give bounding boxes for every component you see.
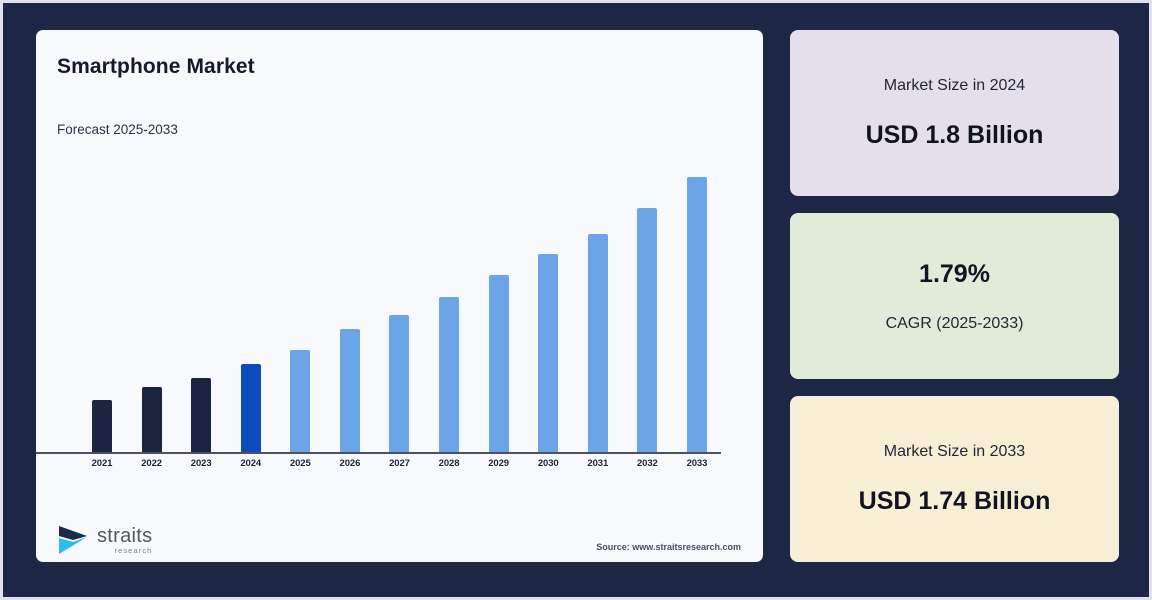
x-axis-label-2022: 2022 <box>129 458 175 469</box>
bar-chart-plot <box>57 160 742 452</box>
bar-slot <box>575 160 621 452</box>
bar-2024[interactable] <box>241 364 261 452</box>
x-axis-line <box>36 452 721 454</box>
bar-slot <box>624 160 670 452</box>
stat-card-caption: Market Size in 2024 <box>884 77 1025 95</box>
x-axis-label-2029: 2029 <box>476 458 522 469</box>
bar-slot <box>327 160 373 452</box>
stat-card-3: Market Size in 2033USD 1.74 Billion <box>790 396 1119 562</box>
stat-card-caption: Market Size in 2033 <box>884 443 1025 461</box>
bar-slot <box>228 160 274 452</box>
bar-slot <box>426 160 472 452</box>
bar-2028[interactable] <box>439 297 459 452</box>
bar-slot <box>674 160 720 452</box>
bar-slot <box>525 160 571 452</box>
stat-card-1: Market Size in 2024USD 1.8 Billion <box>790 30 1119 196</box>
logo-word: straits <box>97 526 152 546</box>
bar-slot <box>476 160 522 452</box>
x-axis-tick-labels: 2021202220232024202520262027202820292030… <box>57 458 742 469</box>
x-axis-label-2032: 2032 <box>624 458 670 469</box>
bar-slot <box>277 160 323 452</box>
stat-card-caption: CAGR (2025-2033) <box>886 315 1024 333</box>
bar-2022[interactable] <box>142 387 162 452</box>
x-axis-label-2023: 2023 <box>178 458 224 469</box>
bar-slot <box>376 160 422 452</box>
chart-panel: Smartphone Market Forecast 2025-2033 202… <box>36 30 763 562</box>
stat-card-value: 1.79% <box>919 260 990 289</box>
logo-wordmark: straits research <box>97 526 152 555</box>
x-axis-label-2030: 2030 <box>525 458 571 469</box>
x-axis-label-2033: 2033 <box>674 458 720 469</box>
x-axis-label-2026: 2026 <box>327 458 373 469</box>
bar-slot <box>79 160 125 452</box>
bar-series <box>57 160 742 452</box>
stat-card-2: 1.79%CAGR (2025-2033) <box>790 213 1119 379</box>
bar-2030[interactable] <box>538 254 558 452</box>
x-axis-label-2024: 2024 <box>228 458 274 469</box>
bar-slot <box>129 160 175 452</box>
bar-2032[interactable] <box>637 208 657 452</box>
straits-research-logo: straits research <box>57 525 152 555</box>
bar-2021[interactable] <box>92 400 112 452</box>
stat-card-value: USD 1.8 Billion <box>866 121 1044 150</box>
x-axis-label-2028: 2028 <box>426 458 472 469</box>
x-axis-label-2025: 2025 <box>277 458 323 469</box>
bar-2029[interactable] <box>489 275 509 452</box>
chart-subtitle: Forecast 2025-2033 <box>57 122 178 137</box>
straits-arrow-icon <box>57 525 91 555</box>
bar-2023[interactable] <box>191 378 211 452</box>
x-axis-label-2027: 2027 <box>376 458 422 469</box>
logo-subword: research <box>97 547 152 555</box>
infographic-root: Smartphone Market Forecast 2025-2033 202… <box>0 0 1152 600</box>
bar-2033[interactable] <box>687 177 707 452</box>
stat-cards-column: Market Size in 2024USD 1.8 Billion1.79%C… <box>790 30 1119 562</box>
bar-2026[interactable] <box>340 329 360 452</box>
bar-2031[interactable] <box>588 234 608 452</box>
x-axis-label-2031: 2031 <box>575 458 621 469</box>
x-axis-label-2021: 2021 <box>79 458 125 469</box>
bar-2025[interactable] <box>290 350 310 452</box>
source-attribution: Source: www.straitsresearch.com <box>596 542 741 552</box>
stat-card-value: USD 1.74 Billion <box>859 487 1051 516</box>
bar-slot <box>178 160 224 452</box>
bar-2027[interactable] <box>389 315 409 452</box>
page-title: Smartphone Market <box>57 55 255 79</box>
